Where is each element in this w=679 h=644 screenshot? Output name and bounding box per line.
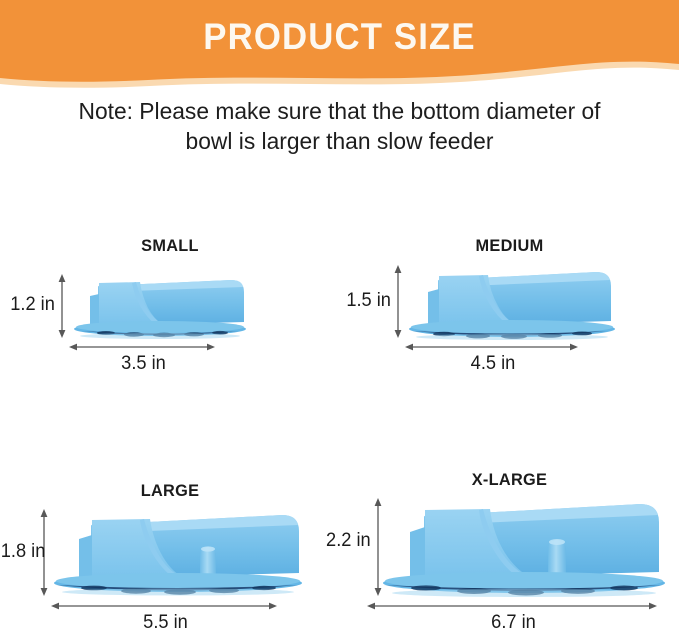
height-value-xlarge: 2.2 in bbox=[307, 530, 370, 552]
width-value-medium: 4.5 in bbox=[411, 353, 574, 375]
dimension-arrowheads bbox=[59, 274, 215, 350]
note-text: Note: Please make sure that the bottom d… bbox=[59, 96, 621, 156]
width-value-large: 5.5 in bbox=[58, 612, 272, 634]
dimension-arrowheads bbox=[41, 509, 277, 609]
width-value-xlarge: 6.7 in bbox=[376, 612, 652, 634]
note-line-1: Note: Please make sure that the bottom d… bbox=[59, 96, 621, 126]
product-size-grid: SMALL bbox=[0, 222, 679, 644]
dimension-arrowheads bbox=[395, 265, 578, 350]
height-value-large: 1.8 in bbox=[1, 541, 37, 563]
product-cell-xlarge: X-LARGE bbox=[340, 456, 679, 644]
note-line-2: bowl is larger than slow feeder bbox=[59, 126, 621, 156]
product-cell-large: LARGE bbox=[0, 467, 340, 644]
product-cell-small: SMALL bbox=[0, 222, 340, 392]
width-value-small: 3.5 in bbox=[75, 353, 212, 375]
page-title: PRODUCT SIZE bbox=[20, 16, 658, 58]
header-banner: PRODUCT SIZE bbox=[0, 0, 679, 96]
dimension-arrowheads bbox=[367, 498, 657, 609]
height-value-medium: 1.5 in bbox=[341, 290, 391, 312]
height-value-small: 1.2 in bbox=[1, 294, 55, 316]
product-cell-medium: MEDIUM bbox=[340, 222, 679, 392]
